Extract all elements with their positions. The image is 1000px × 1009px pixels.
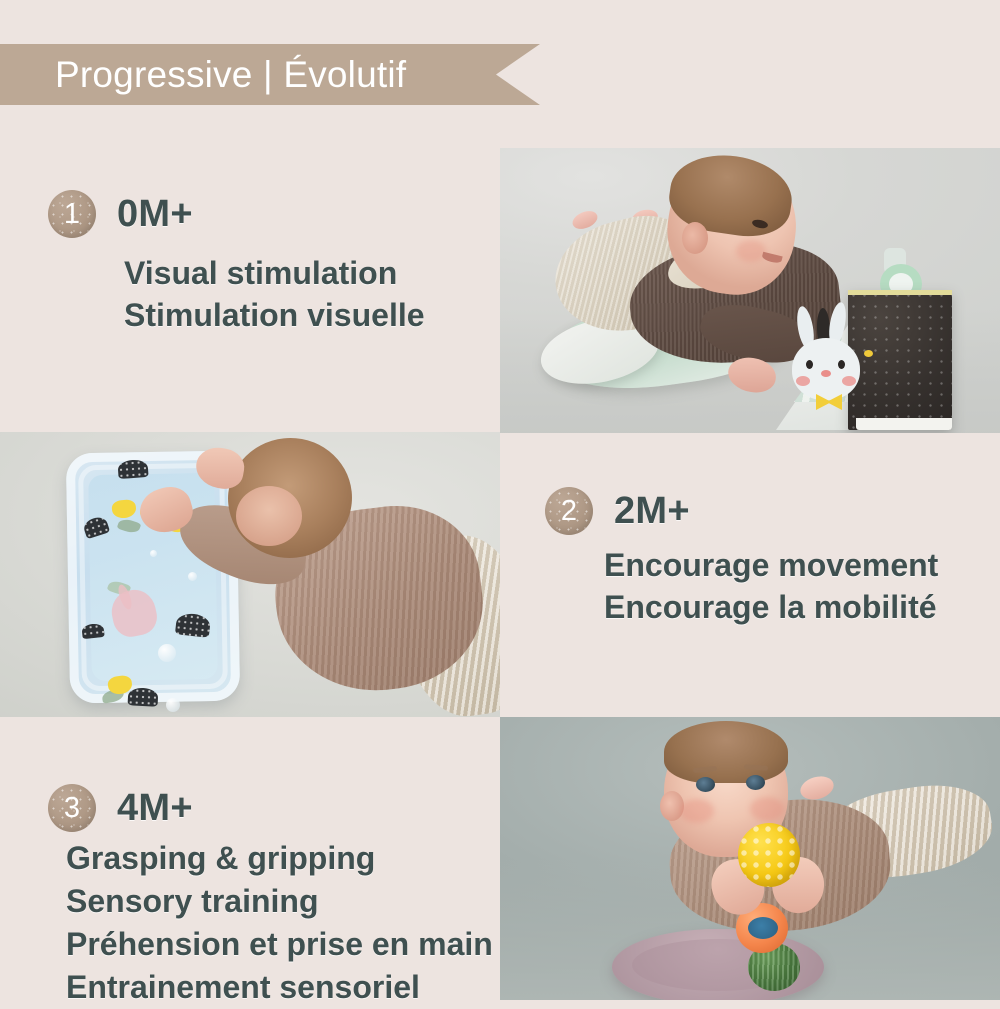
- bunny-cheek-right: [842, 376, 856, 386]
- stage-3-line-en-2: Sensory training: [66, 880, 493, 923]
- ribbon-label: Progressive | Évolutif: [0, 56, 406, 93]
- hedgehog-motif: [117, 459, 148, 479]
- stage-1-number-badge: 1: [48, 190, 96, 238]
- bee-motif: [864, 350, 873, 357]
- stage-2-age-row: 2 2M+: [545, 487, 690, 535]
- rattle-window: [748, 917, 778, 939]
- photo-baby-tummy-time-with-soft-book: [500, 148, 1000, 433]
- progressive-ribbon: Progressive | Évolutif: [0, 44, 540, 105]
- stage-2-line-fr: Encourage la mobilité: [604, 586, 938, 628]
- bunny-cheek-left: [796, 376, 810, 386]
- photo-1-scene: [500, 148, 1000, 433]
- book-dot-pattern: [848, 290, 952, 430]
- stage-1-age-row: 1 0M+: [48, 190, 193, 238]
- stage-2-number: 2: [561, 497, 577, 526]
- yellow-ball-bumps: [738, 823, 800, 887]
- baby-cheek: [736, 240, 766, 262]
- water-play-mat: [66, 451, 240, 704]
- baby-ear: [682, 222, 708, 254]
- book-right-page: [848, 290, 952, 430]
- stage-1-number: 1: [64, 200, 80, 229]
- photo-baby-chewing-sensory-ball: [500, 717, 1000, 1000]
- hedgehog-motif: [81, 623, 104, 639]
- book-top-trim: [848, 290, 952, 295]
- bunny-eye-left: [806, 360, 813, 369]
- water-bubble: [150, 550, 157, 557]
- stage-panel-1: 1 0M+ Visual stimulation Stimulation vis…: [0, 148, 500, 432]
- stage-3-age-row: 3 4M+: [48, 784, 193, 832]
- hedgehog-dots: [128, 687, 159, 707]
- stage-3-number-badge: 3: [48, 784, 96, 832]
- promo-canvas: Progressive | Évolutif: [0, 0, 1000, 1000]
- baby-face-partial: [236, 486, 302, 546]
- baby-cheek-right: [750, 797, 784, 821]
- stage-1-line-fr: Stimulation visuelle: [124, 294, 425, 336]
- book-bottom-edge: [856, 418, 952, 430]
- hedgehog-dots: [117, 459, 148, 479]
- stage-1-age-label: 0M+: [117, 195, 193, 233]
- baby-eye-left: [696, 777, 715, 792]
- stage-2-description: Encourage movement Encourage la mobilité: [604, 544, 938, 628]
- hedgehog-dots: [81, 623, 104, 639]
- soft-activity-book: [776, 290, 952, 430]
- stage-2-line-en: Encourage movement: [604, 544, 938, 586]
- mat-outer-rim: [66, 451, 240, 704]
- bunny-nose: [821, 370, 831, 377]
- stage-panel-2: 2 2M+ Encourage movement Encourage la mo…: [500, 432, 1000, 717]
- baby-cheek-left: [680, 799, 714, 823]
- stage-1-description: Visual stimulation Stimulation visuelle: [124, 252, 425, 336]
- baby-hair: [664, 721, 788, 783]
- stage-3-number: 3: [64, 794, 80, 823]
- hedgehog-motif: [128, 687, 159, 707]
- baby-eye-right: [746, 775, 765, 790]
- photo-baby-on-inflatable-water-play-mat: [0, 432, 500, 717]
- photo-3-scene: [500, 717, 1000, 1000]
- water-bubble: [188, 572, 197, 581]
- photo-2-scene: [0, 432, 500, 717]
- bunny-face: [792, 338, 860, 400]
- stage-3-description: Grasping & gripping Sensory training Pré…: [66, 837, 493, 1009]
- stage-2-number-badge: 2: [545, 487, 593, 535]
- water-bubble: [166, 698, 180, 712]
- stage-3-line-fr-2: Entrainement sensoriel: [66, 966, 493, 1009]
- stage-3-line-en-1: Grasping & gripping: [66, 837, 493, 880]
- stage-1-line-en: Visual stimulation: [124, 252, 425, 294]
- stage-3-line-fr-1: Préhension et prise en main: [66, 923, 493, 966]
- bunny-eye-right: [838, 360, 845, 369]
- stage-3-age-label: 4M+: [117, 789, 193, 827]
- yellow-sensory-ball: [738, 823, 800, 887]
- stage-panel-3: 3 4M+ Grasping & gripping Sensory traini…: [0, 717, 500, 1000]
- stage-2-age-label: 2M+: [614, 492, 690, 530]
- water-bubble: [158, 644, 176, 662]
